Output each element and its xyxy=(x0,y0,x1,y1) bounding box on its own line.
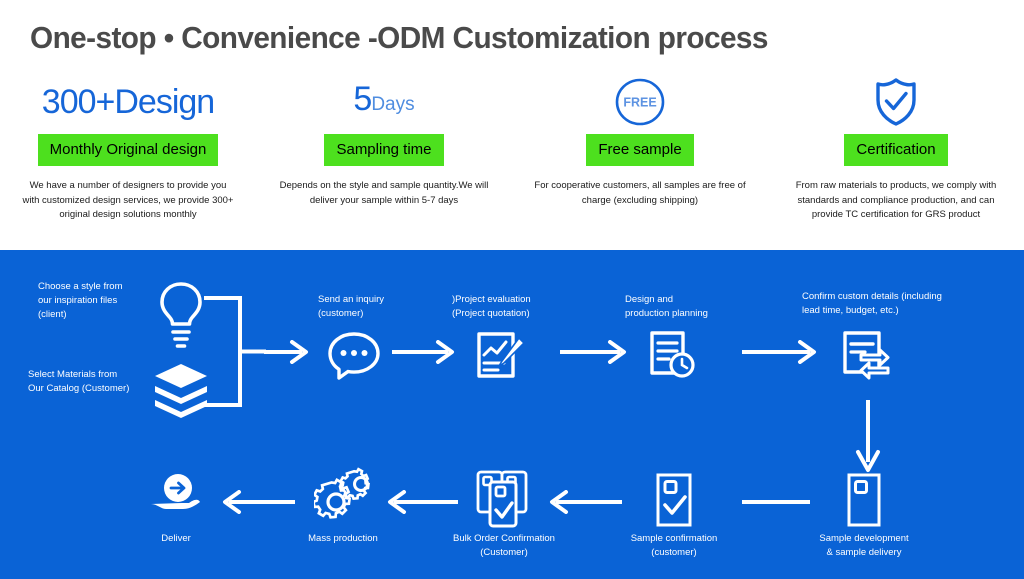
merge-bracket-connector xyxy=(200,294,270,409)
cards-check-icon xyxy=(474,468,536,530)
feature-description-sampling: Depends on the style and sample quantity… xyxy=(277,179,492,208)
document-exchange-icon xyxy=(838,328,896,382)
headline-unit: Design xyxy=(114,83,214,121)
headline-300-design: 300+Design xyxy=(42,78,214,126)
flow-step-mass-production-label: Mass production xyxy=(253,532,433,546)
flow-step-confirm-details-label: Confirm custom details (including lead t… xyxy=(802,290,942,318)
hand-deliver-icon xyxy=(148,472,204,524)
flow-step-sample-development-label: Sample development & sample delivery xyxy=(774,532,954,560)
feature-badge-sampling: Sampling time xyxy=(324,134,443,166)
headline-unit: Days xyxy=(371,94,414,115)
shield-check-icon xyxy=(870,78,922,126)
gears-icon xyxy=(314,466,376,524)
feature-badge-design: Monthly Original design xyxy=(38,134,219,166)
headline-value: 5 xyxy=(353,80,371,118)
chat-bubble-dots-icon xyxy=(326,330,382,382)
arrow-down-connector xyxy=(855,400,881,474)
arrow-right-2 xyxy=(392,340,456,364)
arrow-left-2 xyxy=(542,490,622,514)
feature-description-certification: From raw materials to products, we compl… xyxy=(789,179,1004,223)
sample-card-icon xyxy=(846,472,882,528)
arrow-left-4 xyxy=(215,490,295,514)
flow-step-send-inquiry-label: Send an inquiry (customer) xyxy=(318,293,384,321)
feature-card-design: 300+Design Monthly Original design We ha… xyxy=(0,78,256,250)
flow-input-style-label: Choose a style from our inspiration file… xyxy=(38,280,122,322)
headline-value: 300+ xyxy=(42,83,115,121)
flow-input-materials-label: Select Materials from Our Catalog (Custo… xyxy=(28,368,129,396)
arrow-left-3 xyxy=(380,490,458,514)
flow-step-sample-confirmation-label: Sample confirmation (customer) xyxy=(584,532,764,560)
arrow-left-1 xyxy=(728,490,810,514)
feature-description-design: We have a number of designers to provide… xyxy=(21,179,236,223)
arrow-right-3 xyxy=(560,340,628,364)
flow-step-bulk-order-label: Bulk Order Confirmation (Customer) xyxy=(414,532,594,560)
process-flow-panel: Choose a style from our inspiration file… xyxy=(0,250,1024,579)
flow-step-design-planning-label: Design and production planning xyxy=(625,293,708,321)
feature-card-free-sample: FREE Free sample For cooperative custome… xyxy=(512,78,768,250)
feature-badge-free-sample: Free sample xyxy=(586,134,693,166)
flow-step-project-evaluation-label: )Project evaluation (Project quotation) xyxy=(452,293,531,321)
clipboard-chart-pencil-icon xyxy=(473,328,529,382)
card-check-icon xyxy=(655,472,693,528)
feature-badge-certification: Certification xyxy=(844,134,947,166)
feature-row: 300+Design Monthly Original design We ha… xyxy=(0,78,1024,250)
arrow-right-4 xyxy=(742,340,818,364)
headline-5-days: 5Days xyxy=(353,78,414,126)
svg-text:FREE: FREE xyxy=(623,96,656,110)
feature-description-free-sample: For cooperative customers, all samples a… xyxy=(533,179,748,208)
page-title: One-stop • Convenience -ODM Customizatio… xyxy=(30,20,768,56)
feature-card-certification: Certification From raw materials to prod… xyxy=(768,78,1024,250)
feature-card-sampling: 5Days Sampling time Depends on the style… xyxy=(256,78,512,250)
free-circle-icon: FREE xyxy=(614,78,666,126)
document-clock-icon xyxy=(645,328,701,382)
arrow-right-1 xyxy=(264,340,310,364)
flow-step-deliver-label: Deliver xyxy=(86,532,266,546)
